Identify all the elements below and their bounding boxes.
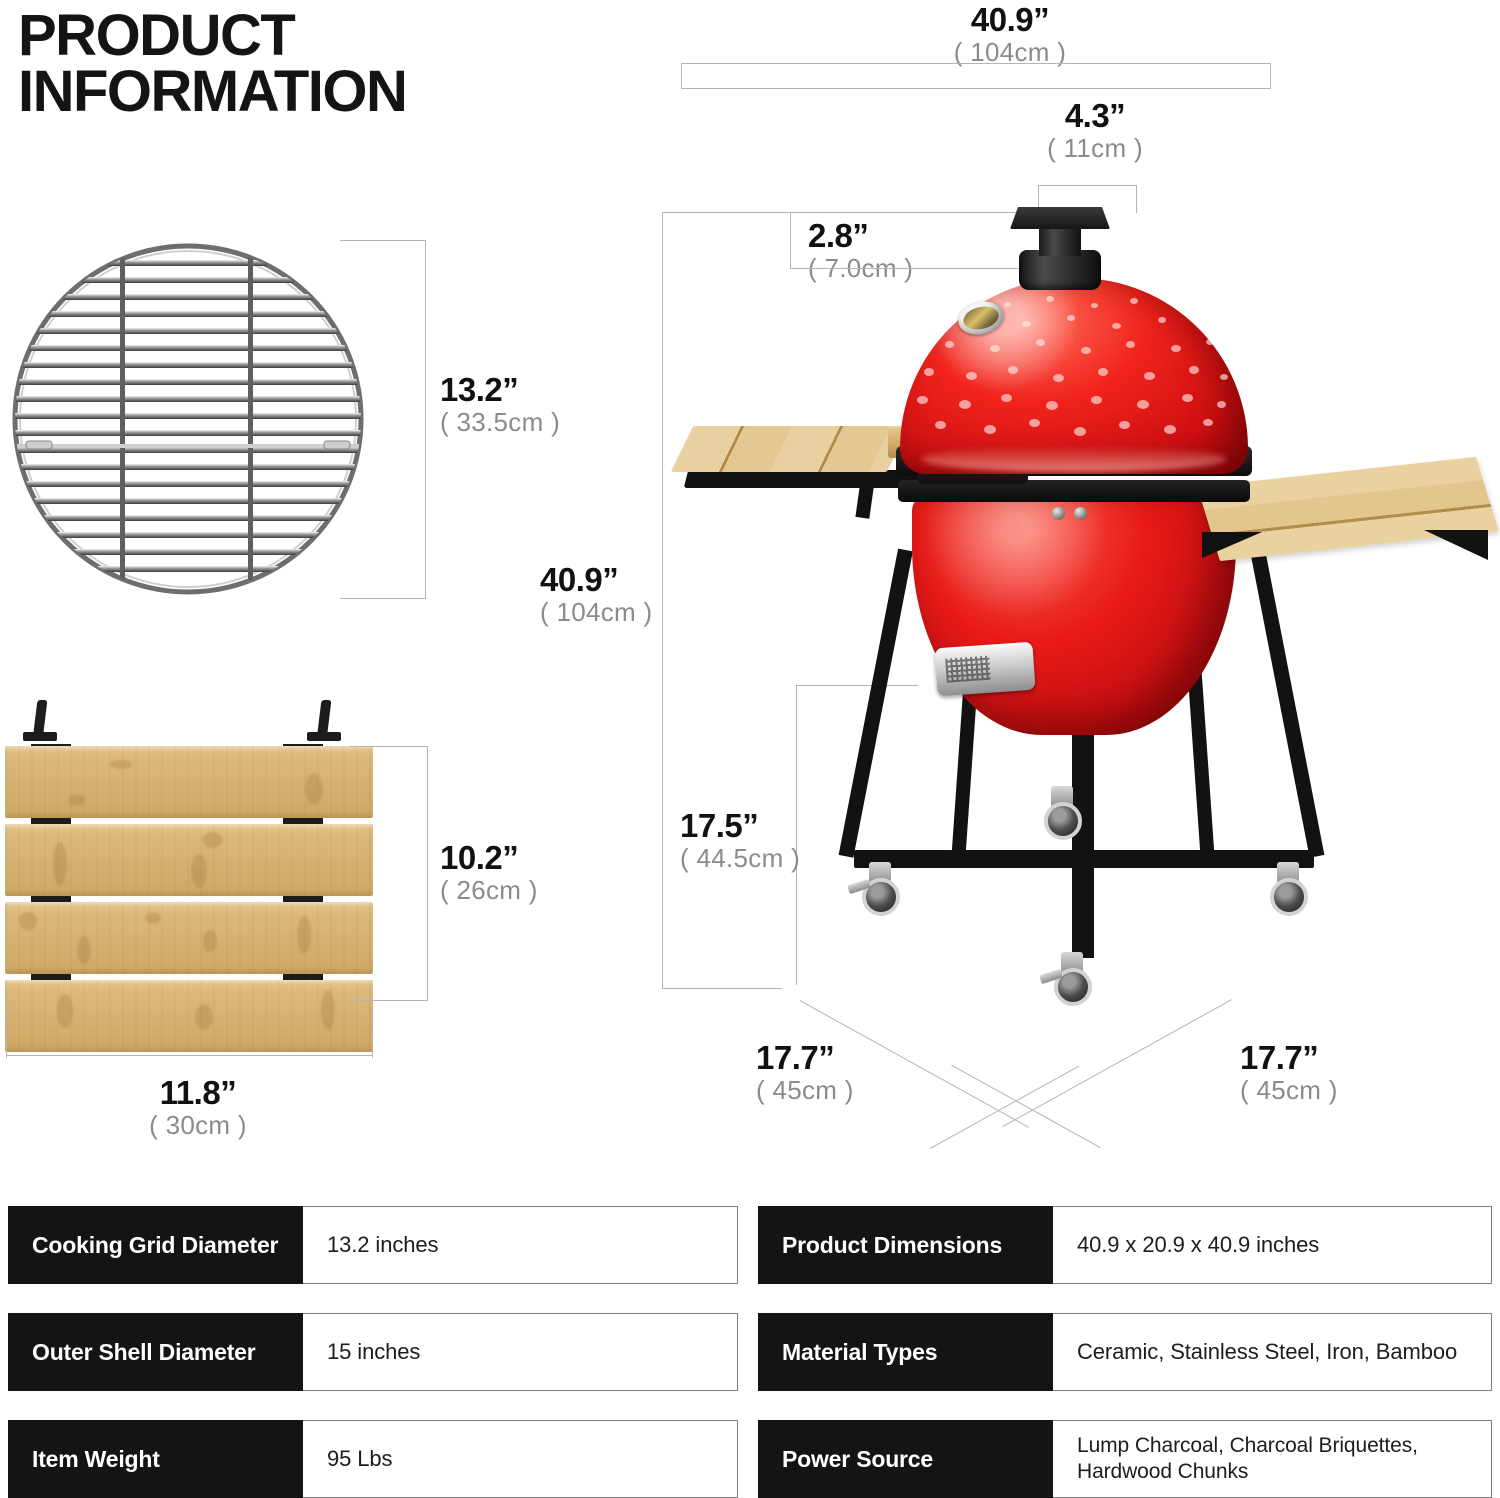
cooking-grate-icon: [8, 238, 368, 600]
guide-line: [681, 63, 1271, 64]
dimension-value-inch: 40.9”: [540, 562, 653, 598]
dimension-overall-height: 40.9” ( 104cm ): [540, 562, 653, 628]
left-side-shelf: LONDON SUNSHINE®: [682, 418, 930, 486]
hinge-bolt: [1052, 507, 1065, 520]
dimension-value-inch: 40.9”: [860, 2, 1160, 38]
dimension-value-inch: 4.3”: [985, 98, 1205, 134]
dimension-value-inch: 11.8”: [108, 1075, 288, 1111]
shelf-slat: [5, 824, 373, 896]
guide-line: [425, 240, 426, 598]
shelf-slat: [5, 980, 373, 1052]
cooking-grate-diagram: [8, 238, 368, 600]
page-title: PRODUCT INFORMATION: [18, 8, 406, 121]
shelf-slat: [5, 902, 373, 974]
guide-line: [1270, 63, 1271, 88]
dimension-value-cm: ( 30cm ): [108, 1111, 288, 1141]
kamado-grill-product-image: LONDON SUNSHINE®: [660, 150, 1500, 1160]
spec-value: Ceramic, Stainless Steel, Iron, Bamboo: [1053, 1313, 1492, 1391]
dimension-grate-height: 13.2” ( 33.5cm ): [440, 372, 560, 438]
shelf-bracket-foot-left: [23, 732, 57, 741]
cart-leg: [1250, 549, 1324, 858]
spec-value: Lump Charcoal, Charcoal Briquettes, Hard…: [1053, 1420, 1492, 1498]
spec-value: 15 inches: [303, 1313, 738, 1391]
table-row: Material Types Ceramic, Stainless Steel,…: [758, 1313, 1492, 1391]
page-title-line1: PRODUCT: [18, 8, 406, 64]
guide-line: [340, 240, 426, 241]
page-title-line2: INFORMATION: [18, 64, 406, 120]
dimension-overall-width: 40.9” ( 104cm ): [860, 2, 1160, 68]
dimension-shelf-height: 10.2” ( 26cm ): [440, 840, 538, 906]
guide-line: [681, 88, 1271, 89]
table-row: Product Dimensions 40.9 x 20.9 x 40.9 in…: [758, 1206, 1492, 1284]
guide-line: [681, 63, 682, 88]
ceramic-dimple-texture: [900, 278, 1248, 474]
table-row: Cooking Grid Diameter 13.2 inches: [8, 1206, 738, 1284]
product-information-infographic: PRODUCT INFORMATION: [0, 0, 1500, 1498]
chimney-damper-base[interactable]: [1019, 250, 1101, 290]
table-row: Item Weight 95 Lbs: [8, 1420, 738, 1498]
cart-bottom-rail: [854, 850, 1314, 868]
spec-key: Material Types: [758, 1313, 1053, 1391]
ceramic-dome-lid: [900, 278, 1248, 474]
dimension-value-cm: ( 33.5cm ): [440, 408, 560, 438]
guide-line: [350, 746, 428, 747]
spec-value: 13.2 inches: [303, 1206, 738, 1284]
bamboo-shelf-diagram: [5, 700, 373, 1040]
hinge-bolt: [1074, 507, 1087, 520]
shelf-bracket-foot-right: [307, 732, 341, 741]
spec-key: Cooking Grid Diameter: [8, 1206, 303, 1284]
dome-gloss-highlight: [921, 446, 1227, 472]
dimension-value-cm: ( 104cm ): [540, 598, 653, 628]
specifications-table: Cooking Grid Diameter 13.2 inches Outer …: [0, 1206, 1500, 1498]
bottom-vent-damper[interactable]: [934, 642, 1035, 697]
dimension-shelf-width: 11.8” ( 30cm ): [108, 1075, 288, 1141]
shelf-slat: [5, 746, 373, 818]
guide-line: [6, 1055, 372, 1056]
shelf-bracket: [684, 470, 928, 488]
dimension-value-cm: ( 26cm ): [440, 876, 538, 906]
guide-line: [350, 1000, 428, 1001]
spec-value: 95 Lbs: [303, 1420, 738, 1498]
shelf-board: [671, 426, 909, 472]
spec-key: Outer Shell Diameter: [8, 1313, 303, 1391]
spec-key: Product Dimensions: [758, 1206, 1053, 1284]
table-row: Power Source Lump Charcoal, Charcoal Bri…: [758, 1420, 1492, 1498]
dimension-value-inch: 10.2”: [440, 840, 538, 876]
spec-key: Item Weight: [8, 1420, 303, 1498]
spec-key: Power Source: [758, 1420, 1053, 1498]
guide-line: [372, 1010, 373, 1058]
table-row: Outer Shell Diameter 15 inches: [8, 1313, 738, 1391]
guide-line: [340, 598, 426, 599]
spec-value: 40.9 x 20.9 x 40.9 inches: [1053, 1206, 1492, 1284]
guide-line: [6, 1010, 7, 1058]
guide-line: [427, 746, 428, 1000]
dimension-value-inch: 13.2”: [440, 372, 560, 408]
chimney-cap[interactable]: [1010, 207, 1110, 229]
cart-leg: [839, 549, 913, 858]
